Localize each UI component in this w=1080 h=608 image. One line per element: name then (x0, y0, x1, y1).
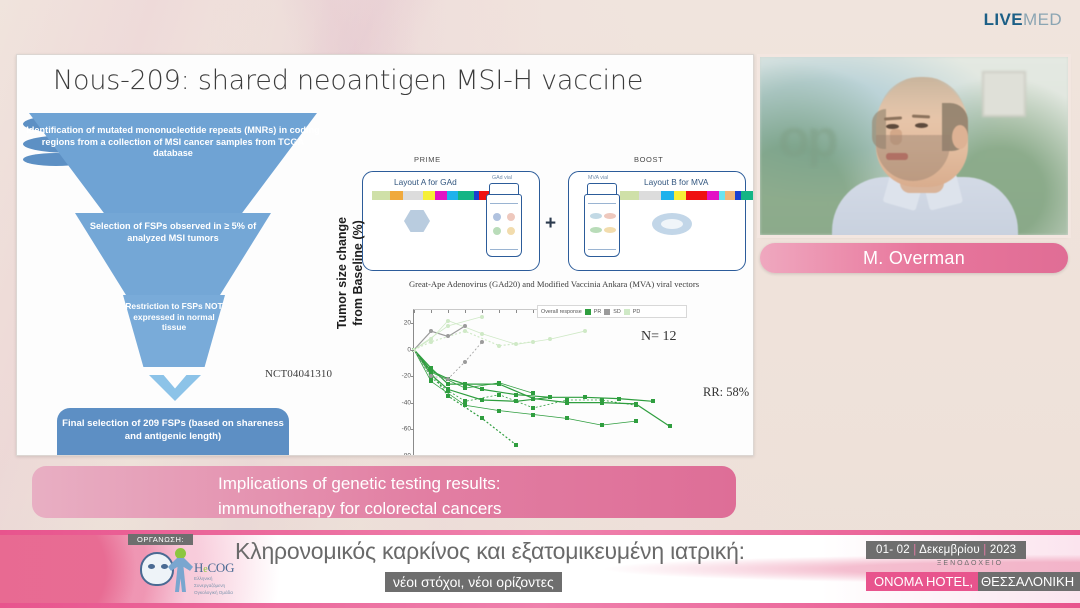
chart-point (617, 397, 621, 401)
chart-series-line (414, 350, 670, 427)
chart-y-tick: 20 (404, 320, 411, 327)
chart-y-tickmark (411, 350, 414, 351)
legend-swatch-sd (604, 309, 610, 315)
chart-y-tick: -80 (402, 452, 411, 456)
chart-y-tick: -20 (402, 373, 411, 380)
hecog-subtitle: Ελληνική Συνεργαζόμενη Ογκολογική Ομάδα (194, 576, 238, 597)
spider-plot: Tumor size change from Baseline (%) (Day… (351, 305, 751, 456)
hecog-cog: COG (207, 560, 234, 575)
legend-title: Overall response (541, 309, 582, 315)
chart-point (548, 395, 552, 399)
session-title-line2: immunotherapy for colorectal cancers (218, 497, 736, 522)
chart-x-tickmark (431, 310, 432, 313)
plus-symbol: + (545, 213, 556, 235)
venue-name: ONOMA HOTEL, (866, 572, 978, 591)
chart-point (446, 394, 450, 398)
chart-y-tickmark (411, 323, 414, 324)
chart-point (463, 324, 467, 328)
chart-point (514, 342, 518, 346)
chart-point (634, 419, 638, 423)
date-month: Δεκεμβρίου (919, 544, 980, 556)
legend-label-pd: PD (633, 309, 641, 315)
human-figure-icon (166, 548, 194, 592)
chart-point (514, 393, 518, 397)
chart-point (531, 391, 535, 395)
chart-point (480, 398, 484, 402)
chart-point (446, 319, 450, 323)
hecog-name: HeCOG (194, 560, 234, 576)
presentation-slide[interactable]: Nous-209: shared neoantigen MSI-H vaccin… (16, 54, 754, 456)
mva-virus-icon (652, 213, 692, 235)
chart-point (497, 393, 501, 397)
date-separator-2: | (983, 544, 986, 556)
prime-header: PRIME (414, 155, 441, 164)
hotel-caption: ΞΕΝΟΔΟΧΕΙΟ (866, 560, 1074, 567)
mva-vial-icon (584, 183, 620, 257)
chart-x-tickmark (482, 310, 483, 313)
chart-y-axis-label: Tumor size change from Baseline (%) (335, 203, 366, 343)
chart-point (463, 386, 467, 390)
chart-point (463, 403, 467, 407)
chart-point (634, 403, 638, 407)
chart-n-annotation: N= 12 (641, 329, 677, 345)
trial-id: NCT04041310 (265, 368, 332, 380)
chart-point (531, 406, 535, 410)
legend-swatch-pd (624, 309, 630, 315)
conference-date: 01- 02 | Δεκεμβρίου | 2023 (866, 541, 1026, 559)
chart-point (446, 334, 450, 338)
legend-label-sd: SD (613, 309, 621, 315)
figure-body (168, 558, 193, 592)
chart-x-tickmark (448, 310, 449, 313)
chart-point (429, 369, 433, 373)
funnel-stage-3-label: Restriction to FSPs NOT expressed in nor… (123, 301, 225, 333)
speaker-name-bar: M. Overman (760, 243, 1068, 273)
funnel-result-label: Final selection of 209 FSPs (based on sh… (57, 418, 289, 443)
conference-subtitle: νέοι στόχοι, νέοι ορίζοντες (385, 572, 562, 592)
chart-legend: Overall response PR SD PD (537, 305, 687, 318)
date-separator-1: | (913, 544, 916, 556)
date-day: 01- 02 (876, 544, 910, 556)
chart-y-tickmark (411, 429, 414, 430)
chart-point (531, 413, 535, 417)
gad-vial-icon (486, 183, 522, 257)
livemed-live-text: LIVE (984, 10, 1023, 29)
chart-y-tick: -40 (402, 399, 411, 406)
chart-point (463, 360, 467, 364)
chart-point (497, 409, 501, 413)
mva-vial-label: MVA vial (588, 175, 608, 181)
boost-antigen-bar (620, 191, 738, 200)
chart-point (480, 387, 484, 391)
hecog-logo: HeCOG Ελληνική Συνεργαζόμενη Ογκολογική … (138, 548, 238, 604)
chart-point (480, 416, 484, 420)
chart-rr-annotation: RR: 58% (703, 385, 749, 400)
chart-point (600, 398, 604, 402)
session-title-bar: Implications of genetic testing results:… (32, 466, 736, 518)
livemed-logo: LIVEMED (984, 11, 1062, 28)
vector-caption: Great-Ape Adenovirus (GAd20) and Modifie… (344, 279, 754, 289)
chart-point (565, 398, 569, 402)
organizer-label: ΟΡΓΑΝΩΣΗ: (128, 534, 193, 545)
chart-point (446, 382, 450, 386)
chart-point (548, 337, 552, 341)
chart-point (651, 399, 655, 403)
chart-x-tickmark (465, 310, 466, 313)
chart-x-tickmark (516, 310, 517, 313)
chart-point (429, 379, 433, 383)
venue-city: ΘΕΣΣΑΛΟΝΙΚΗ (978, 572, 1080, 591)
figure-head (175, 548, 186, 559)
chart-point (600, 423, 604, 427)
chart-point (583, 395, 587, 399)
chart-point (446, 324, 450, 328)
chart-point (497, 381, 501, 385)
chart-point (446, 377, 450, 381)
prime-layout-label: Layout A for GAd (394, 177, 457, 187)
prime-antigen-bar (372, 191, 490, 200)
chart-point (531, 397, 535, 401)
session-title-line1: Implications of genetic testing results: (218, 472, 736, 497)
legend-swatch-pr (585, 309, 591, 315)
chart-point (514, 443, 518, 447)
chart-point (429, 340, 433, 344)
chart-point (480, 340, 484, 344)
chart-point (463, 329, 467, 333)
funnel-diagram: Identification of mutated mononucleotide… (23, 113, 323, 453)
chart-y-tickmark (411, 376, 414, 377)
livemed-med-text: MED (1023, 10, 1062, 29)
date-year: 2023 (990, 544, 1016, 556)
prime-boost-diagram: PRIME BOOST Layout A for GAd GAd vial + (362, 155, 752, 300)
chart-y-tick: -60 (402, 426, 411, 433)
gad-vial-label: GAd vial (492, 175, 512, 181)
chart-x-tickmark (414, 310, 415, 313)
chart-y-tickmark (411, 403, 414, 404)
hecog-h: H (194, 560, 203, 575)
chevron-down-icon (149, 375, 201, 401)
legend-label-pr: PR (594, 309, 602, 315)
chart-point (497, 344, 501, 348)
funnel-stage-2-label: Selection of FSPs observed in ≥ 5% of an… (75, 221, 271, 244)
conference-title: Κληρονομικός καρκίνος και εξατομικευμένη… (235, 538, 745, 565)
chart-series-line (414, 350, 516, 445)
chart-point (429, 329, 433, 333)
chart-point (531, 340, 535, 344)
chart-point (480, 315, 484, 319)
chart-point (565, 416, 569, 420)
chart-point (583, 329, 587, 333)
speaker-video[interactable]: op (760, 57, 1068, 235)
slide-title: Nous-209: shared neoantigen MSI-H vaccin… (53, 65, 643, 96)
chart-point (446, 387, 450, 391)
chart-point (480, 332, 484, 336)
chart-point (429, 374, 433, 378)
venue-box: ONOMA HOTEL, ΘΕΣΣΑΛΟΝΙΚΗ (866, 572, 1080, 591)
chart-x-tickmark (499, 310, 500, 313)
chart-point (668, 424, 672, 428)
video-blur-overlay (760, 57, 1068, 235)
chart-x-tickmark (533, 310, 534, 313)
boost-header: BOOST (634, 155, 663, 164)
funnel-stage-1-label: Identification of mutated mononucleotide… (23, 125, 323, 160)
chart-point (514, 399, 518, 403)
boost-layout-label: Layout B for MVA (644, 177, 708, 187)
